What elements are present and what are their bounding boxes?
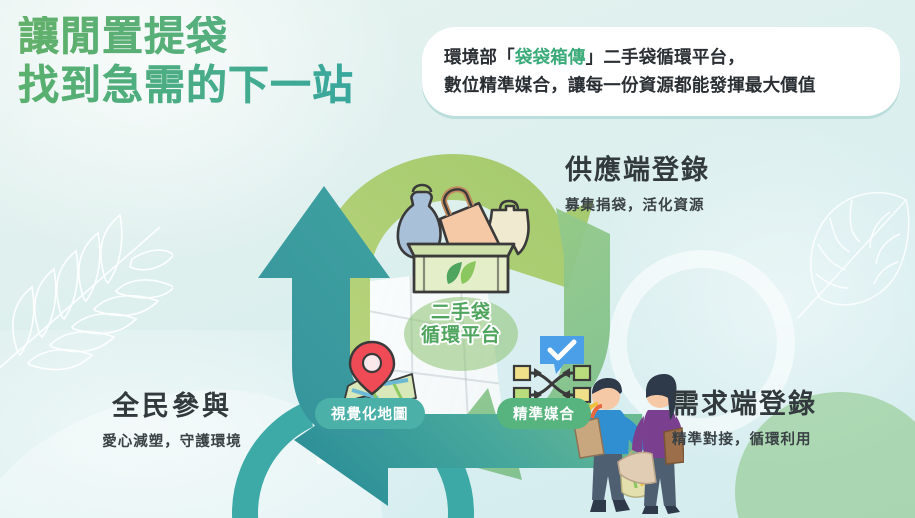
fern-leaf-decoration [0,175,173,390]
center-badge-line-2: 循環平台 [398,324,524,347]
section-public-title: 全民參與 [82,392,262,422]
callout-highlight: 袋袋箱傳 [515,47,586,67]
section-demand-registration: 需求端登錄 精準對接，循環利用 [672,390,817,449]
infographic-poster: 讓閒置提袋 找到急需的下一站 環境部「袋袋箱傳」二手袋循環平台， 數位精準媒合，… [0,0,915,518]
callout-line-1: 環境部「袋袋箱傳」二手袋循環平台， [444,43,886,71]
center-platform-badge: 二手袋 循環平台 [398,295,524,373]
callout-box: 環境部「袋袋箱傳」二手袋循環平台， 數位精準媒合，讓每一份資源都能發揮最大價值 [422,27,900,116]
section-demand-subtitle: 精準對接，循環利用 [672,428,817,449]
monstera-leaf-decoration [790,178,915,326]
shoppers-illustration [572,358,684,516]
center-badge-line-1: 二手袋 [398,295,524,324]
section-public-subtitle: 愛心減塑，守護環境 [82,430,262,451]
callout-text-pre: 環境部「 [444,47,515,67]
section-supply-title: 供應端登錄 [565,156,710,186]
poster-headline: 讓閒置提袋 找到急需的下一站 [18,16,438,106]
section-supply-registration: 供應端登錄 募集捐袋，活化資源 [565,156,710,215]
callout-line-2: 數位精準媒合，讓每一份資源都能發揮最大價值 [444,71,886,99]
section-supply-subtitle: 募集捐袋，活化資源 [565,194,710,215]
headline-line-1: 讓閒置提袋 [18,16,438,63]
headline-line-2: 找到急需的下一站 [18,63,438,106]
pill-precise-match[interactable]: 精準媒合 [497,398,591,429]
callout-text-post: 」二手袋循環平台， [586,47,745,67]
pill-visual-map[interactable]: 視覺化地圖 [315,398,425,429]
section-demand-title: 需求端登錄 [672,390,817,420]
donation-box-icon [388,172,533,300]
section-public-participation: 全民參與 愛心減塑，守護環境 [82,392,262,451]
